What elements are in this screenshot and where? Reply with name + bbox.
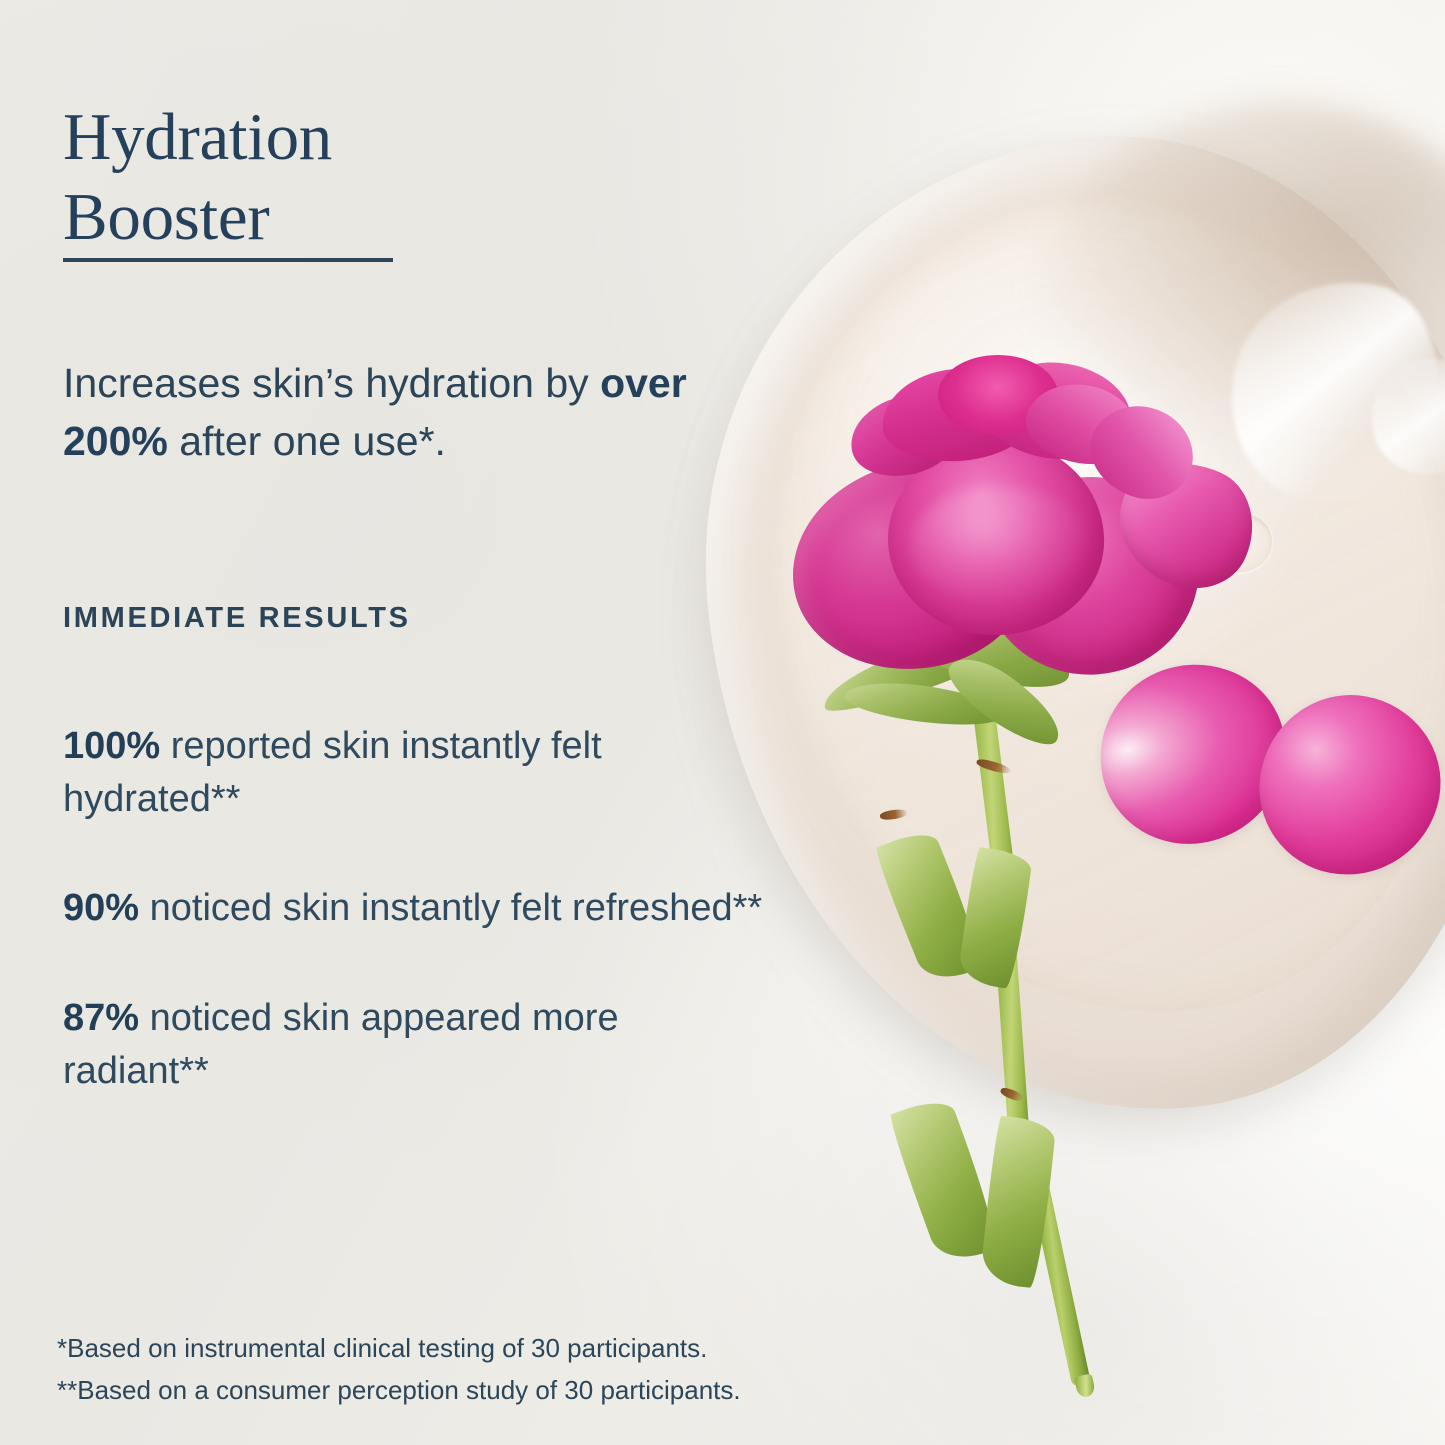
benefit-text-lead: Increases skin’s hydration by: [63, 360, 600, 406]
benefit-statement: Increases skin’s hydration by over 200% …: [63, 354, 763, 470]
footnote-single-asterisk: *Based on instrumental clinical testing …: [57, 1327, 1037, 1369]
copy-panel: HydrationBooster Increases skin’s hydrat…: [0, 0, 780, 1445]
title-divider: [63, 258, 393, 262]
results-list: 100% reported skin instantly felt hydrat…: [63, 682, 763, 1154]
result-value: 90%: [63, 887, 139, 929]
result-label: noticed skin instantly felt refreshed**: [139, 887, 762, 929]
rose-bloom-highlight: [910, 485, 1090, 605]
result-label: noticed skin appeared more radiant**: [63, 997, 619, 1092]
footnote-double-asterisk: **Based on a consumer perception study o…: [57, 1369, 1037, 1411]
result-item: 90% noticed skin instantly felt refreshe…: [63, 882, 763, 935]
rose-bloom: [790, 345, 1260, 685]
page-title-line1: Hydration: [63, 100, 332, 174]
result-value: 100%: [63, 725, 160, 767]
page-title: HydrationBooster: [63, 97, 703, 258]
rose-stem-cut-tip: [1074, 1373, 1096, 1398]
product-benefit-panel: Pink rose and two loose rose petals rest…: [0, 0, 1445, 1445]
immediate-results-heading: IMMEDIATE RESULTS: [63, 602, 411, 635]
footnotes: *Based on instrumental clinical testing …: [57, 1327, 1037, 1411]
result-item: 100% reported skin instantly felt hydrat…: [63, 720, 763, 826]
result-value: 87%: [63, 997, 139, 1039]
page-title-line2: Booster: [63, 180, 269, 254]
result-item: 87% noticed skin appeared more radiant**: [63, 992, 763, 1098]
benefit-text-tail: after one use*.: [168, 418, 446, 464]
